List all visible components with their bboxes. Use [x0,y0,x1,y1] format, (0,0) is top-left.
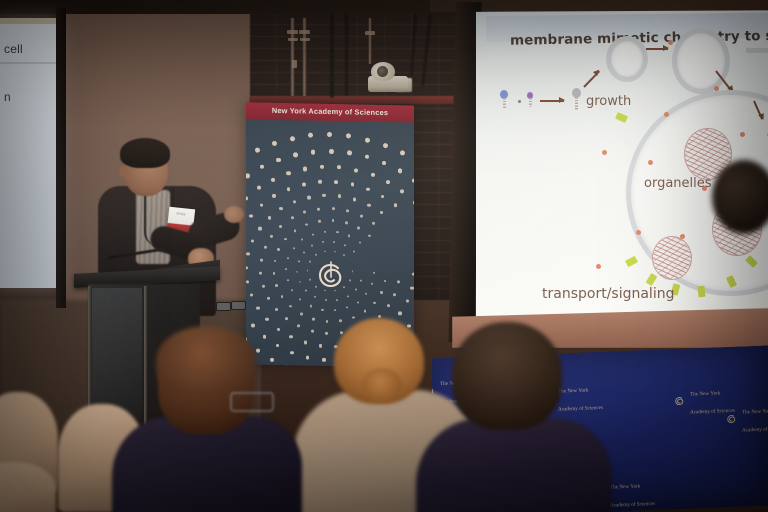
reaction-arrow [540,100,564,102]
speaker-right-hand [224,206,244,223]
foreground-head-silhouette [712,160,768,234]
molecule-dot [664,112,669,117]
pipe-clamp [365,31,375,35]
left-slide-divider [0,62,60,64]
wall-pipe [368,18,372,64]
backdrop-logo: The New York Academy of Sciences [724,399,768,437]
backdrop-line-1: The New York [742,408,768,415]
pipe-joint [292,60,297,68]
camera-lens-icon [377,66,388,77]
molecule-dot [602,150,607,155]
audience-left-eyeglasses-icon [230,392,274,412]
pipe-clamp [300,38,310,41]
molecule-dot [714,86,719,91]
eyeglasses-icon [231,301,246,310]
left-projection-screen [0,18,60,288]
speaker-ear [119,166,127,177]
left-slide-text-1: cell [4,42,23,56]
audience-member-left [140,330,272,512]
growth-arrow [646,48,668,50]
main-projection-screen: membrane mimetic chemistry to suppor [452,2,768,342]
presentation-photo: cell n membrane mimetic chemistry to sup… [0,0,768,512]
small-vesicle [606,36,648,82]
hanging-cable [345,14,348,96]
backdrop-line-2: Academy of Sciences [742,426,768,434]
molecule-dot [702,186,707,191]
organelle [652,236,692,280]
nyas-mark-icon [724,411,739,427]
audience-right-torso [416,418,612,512]
hanging-cable [330,14,334,98]
speaker-hair [120,138,170,168]
audience-left-hair [156,326,256,396]
left-slide-text-2: n [4,90,11,104]
backdrop-line-1: The New York [690,390,720,397]
backdrop-logo-text: The New York Academy of Sciences [610,474,655,512]
backdrop-line-2: Academy of Sciences [610,501,655,509]
molecule-dot [636,230,641,235]
pipe-clamp [288,38,298,41]
audience-member-right [434,322,584,512]
pipe-clamp [299,30,310,34]
ptz-camera [368,62,408,92]
label-transport-signaling: transport/signaling [542,286,674,302]
backdrop-logo-text: The New York Academy of Sciences [742,399,768,437]
molecule-dot [680,234,685,239]
nyas-mark-icon [672,393,687,409]
molecule-dot [648,160,653,165]
membrane-protein [697,286,705,298]
label-growth: growth [586,94,631,109]
audience-center-bun [362,368,402,402]
large-vesicle [672,28,730,94]
molecule-dot [668,40,673,45]
slide-area: membrane mimetic chemistry to suppor [476,8,768,330]
pipe-clamp [287,30,298,34]
nyas-spiral-logo [308,254,354,301]
left-screen-top-band [0,18,60,24]
molecule-dot [596,264,601,269]
left-screen-frame [56,8,66,308]
backdrop-line-1: The New York [610,483,640,490]
audience-right-hair [452,322,562,430]
lectern-glass-panel [92,288,142,418]
molecule-dot [740,132,745,137]
